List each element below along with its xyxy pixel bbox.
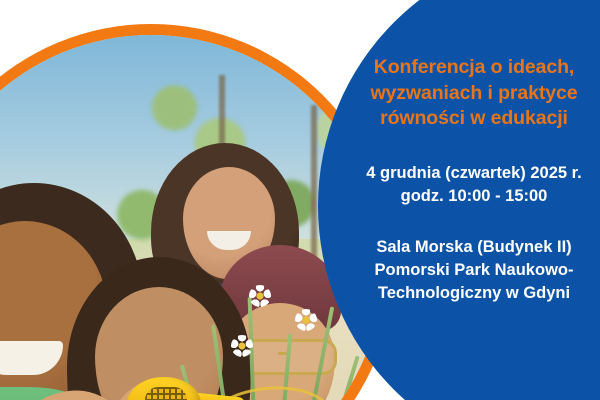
daisy-flower (295, 309, 317, 331)
bubble-wand-grill (145, 387, 187, 400)
event-venue: Sala Morska (Budynek II) Pomorski Park N… (352, 208, 596, 305)
event-date: 4 grudnia (czwartek) 2025 r. (352, 162, 596, 185)
headline-line-3: równości w edukacji (352, 106, 596, 132)
page-title: Konferencja o ideach, wyzwaniach i prakt… (352, 55, 596, 132)
event-datetime: 4 grudnia (czwartek) 2025 r. godz. 10:00… (352, 132, 596, 208)
headline-line-2: wyzwaniach i praktyce (352, 81, 596, 107)
daisy-flower (231, 335, 253, 357)
headline-line-1: Konferencja o ideach, (352, 55, 596, 81)
poster-text-column: Konferencja o ideach, wyzwaniach i prakt… (352, 55, 596, 305)
event-time: godz. 10:00 - 15:00 (352, 185, 596, 208)
venue-line-2: Pomorski Park Naukowo- (352, 259, 596, 282)
daisy-flower (249, 285, 271, 307)
event-poster: Konferencja o ideach, wyzwaniach i prakt… (0, 0, 600, 400)
venue-line-1: Sala Morska (Budynek II) (352, 236, 596, 259)
venue-line-3: Technologiczny w Gdyni (352, 282, 596, 305)
